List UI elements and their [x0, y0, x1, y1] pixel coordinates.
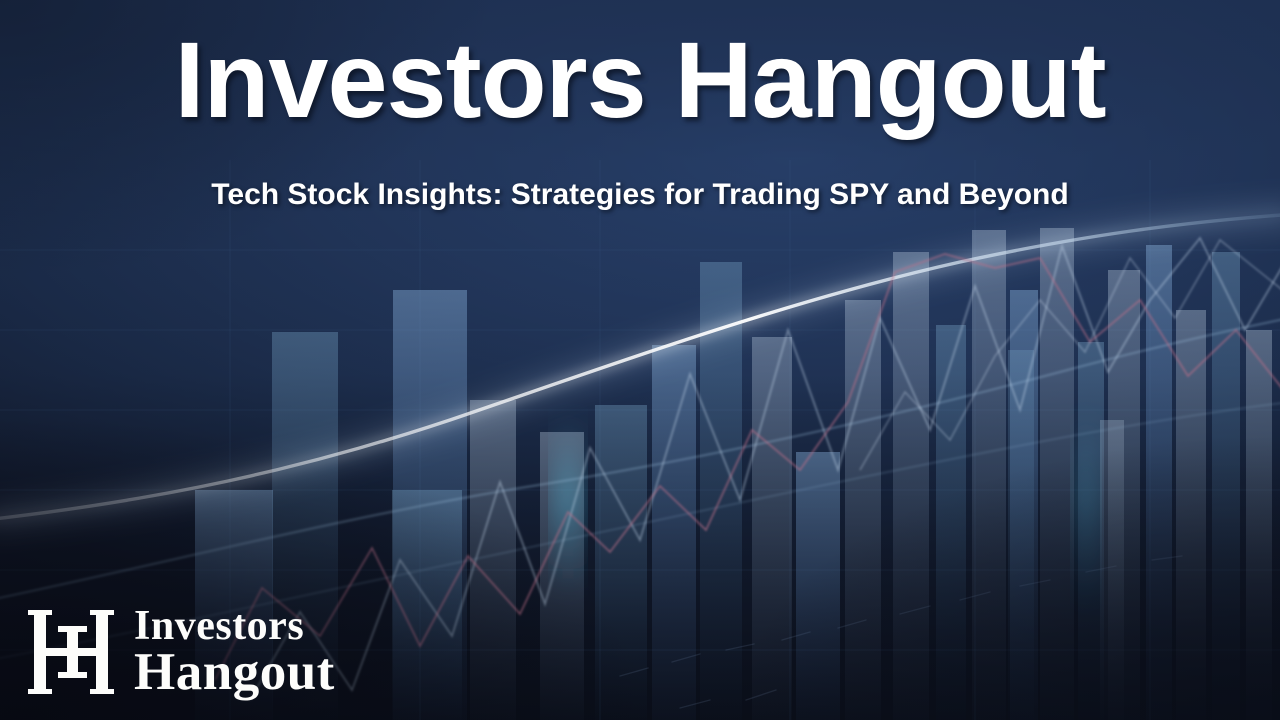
brand-logo-wordmark: Investors Hangout — [134, 607, 335, 697]
brand-logo-line2: Hangout — [134, 647, 335, 697]
brand-logo[interactable]: Investors Hangout — [28, 602, 335, 702]
brand-logo-line1: Investors — [134, 607, 335, 647]
page-subtitle: Tech Stock Insights: Strategies for Trad… — [0, 178, 1280, 212]
banner-image: Investors Hangout Tech Stock Insights: S… — [0, 0, 1280, 720]
page-title: Investors Hangout — [0, 20, 1280, 141]
ih-monogram-icon — [28, 602, 120, 702]
